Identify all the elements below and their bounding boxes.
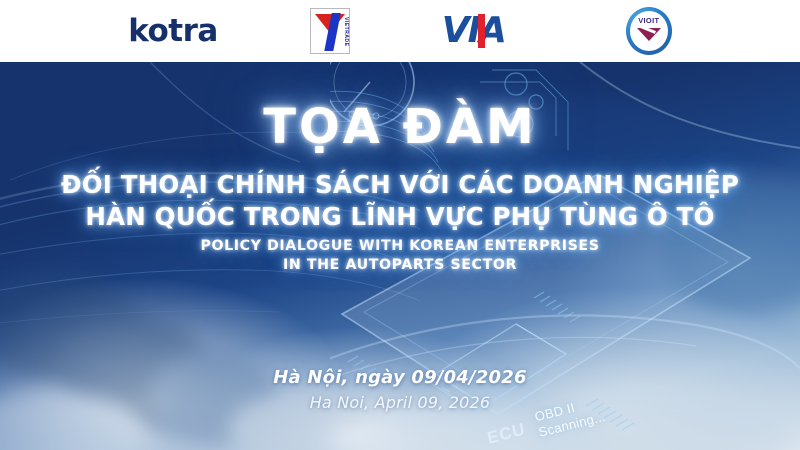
poster-text-content: TỌA ĐÀM ĐỐI THOẠI CHÍNH SÁCH VỚI CÁC DOA… (0, 62, 800, 450)
logo-bar: kotra VIETRADE VIA VIOIT (0, 0, 800, 62)
via-logo: VIA (442, 12, 534, 50)
via-red-bar-icon (478, 14, 485, 48)
kotra-logo: kotra (128, 16, 218, 47)
via-logo-label: VIA (442, 10, 505, 51)
event-date-vietnamese: Hà Nội, ngày 09/04/2026 (0, 367, 800, 388)
subtitle-en-line2: IN THE AUTOPARTS SECTOR (0, 256, 800, 275)
subtitle-vi-line1: ĐỐI THOẠI CHÍNH SÁCH VỚI CÁC DOANH NGHIỆ… (61, 170, 739, 199)
poster-subtitle-english: POLICY DIALOGUE WITH KOREAN ENTERPRISES … (0, 237, 800, 275)
vioit-logo: VIOIT (626, 7, 672, 55)
vioit-logo-label: VIOIT (626, 16, 672, 25)
poster-title: TỌA ĐÀM (0, 103, 800, 151)
event-date-english: Ha Noi, April 09, 2026 (0, 393, 800, 412)
event-poster: kotra VIETRADE VIA VIOIT (0, 0, 800, 450)
vietrade-logo: VIETRADE (310, 8, 350, 54)
subtitle-vi-line2: HÀN QUỐC TRONG LĨNH VỰC PHỤ TÙNG Ô TÔ (0, 201, 800, 233)
subtitle-en-line1: POLICY DIALOGUE WITH KOREAN ENTERPRISES (200, 238, 599, 254)
poster-background: OBD II Scanning... ECU TỌA ĐÀM ĐỐI THOẠI… (0, 62, 800, 450)
poster-subtitle-vietnamese: ĐỐI THOẠI CHÍNH SÁCH VỚI CÁC DOANH NGHIỆ… (0, 169, 800, 233)
vietrade-logo-label: VIETRADE (343, 14, 349, 50)
